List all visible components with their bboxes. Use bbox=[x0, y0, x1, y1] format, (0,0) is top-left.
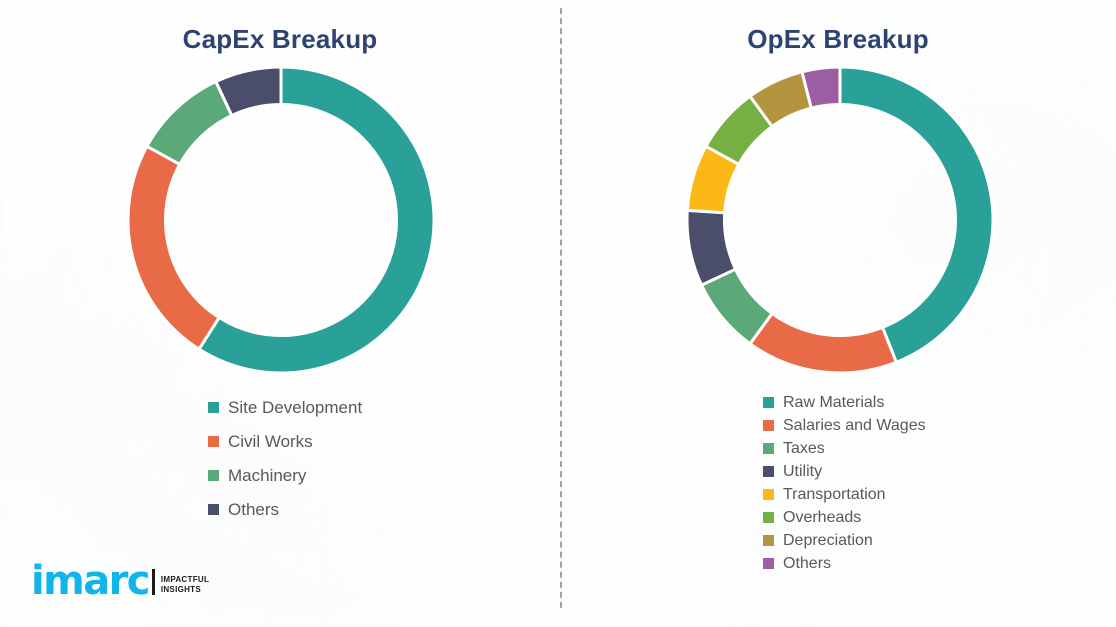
legend-item-label: Raw Materials bbox=[783, 395, 884, 411]
legend-item-label: Machinery bbox=[228, 467, 306, 484]
slide-canvas: CapEx Breakup Site DevelopmentCivil Work… bbox=[0, 0, 1116, 627]
logo-tagline-line1: IMPACTFUL bbox=[161, 575, 209, 585]
legend-swatch-icon bbox=[208, 504, 219, 515]
legend-item-label: Others bbox=[783, 556, 831, 572]
capex-panel: CapEx Breakup Site DevelopmentCivil Work… bbox=[0, 0, 560, 627]
opex-chart-title: OpEx Breakup bbox=[560, 24, 1116, 55]
capex-legend-item[interactable]: Site Development bbox=[208, 390, 362, 424]
opex-donut-chart bbox=[684, 64, 996, 376]
legend-swatch-icon bbox=[208, 436, 219, 447]
legend-swatch-icon bbox=[763, 443, 774, 454]
legend-swatch-icon bbox=[208, 470, 219, 481]
donut-slice bbox=[147, 82, 232, 165]
legend-swatch-icon bbox=[763, 420, 774, 431]
opex-legend-item[interactable]: Raw Materials bbox=[763, 391, 926, 414]
legend-item-label: Overheads bbox=[783, 510, 861, 526]
opex-legend-item[interactable]: Transportation bbox=[763, 483, 926, 506]
opex-legend-item[interactable]: Utility bbox=[763, 460, 926, 483]
donut-slice bbox=[840, 67, 993, 362]
logo-wordmark: imarc bbox=[31, 565, 149, 598]
capex-slice-group bbox=[128, 67, 434, 373]
legend-swatch-icon bbox=[763, 466, 774, 477]
legend-item-label: Salaries and Wages bbox=[783, 418, 926, 434]
opex-legend: Raw MaterialsSalaries and WagesTaxesUtil… bbox=[763, 391, 926, 575]
legend-item-label: Depreciation bbox=[783, 533, 873, 549]
imarc-logo: imarc IMPACTFUL INSIGHTS bbox=[31, 565, 209, 598]
donut-slice bbox=[750, 313, 896, 373]
legend-swatch-icon bbox=[763, 558, 774, 569]
capex-legend-item[interactable]: Civil Works bbox=[208, 424, 362, 458]
legend-item-label: Utility bbox=[783, 464, 822, 480]
capex-donut-chart bbox=[125, 64, 437, 376]
opex-legend-item[interactable]: Others bbox=[763, 552, 926, 575]
legend-swatch-icon bbox=[763, 535, 774, 546]
logo-tagline-line2: INSIGHTS bbox=[161, 585, 209, 595]
opex-legend-item[interactable]: Depreciation bbox=[763, 529, 926, 552]
legend-item-label: Civil Works bbox=[228, 433, 313, 450]
logo-divider-bar bbox=[152, 569, 155, 595]
legend-item-label: Transportation bbox=[783, 487, 886, 503]
capex-legend-item[interactable]: Others bbox=[208, 492, 362, 526]
legend-swatch-icon bbox=[208, 402, 219, 413]
legend-item-label: Taxes bbox=[783, 441, 825, 457]
opex-legend-item[interactable]: Taxes bbox=[763, 437, 926, 460]
capex-donut-svg bbox=[125, 64, 437, 376]
logo-tagline: IMPACTFUL INSIGHTS bbox=[161, 575, 209, 598]
donut-slice bbox=[687, 210, 735, 285]
opex-donut-svg bbox=[684, 64, 996, 376]
legend-swatch-icon bbox=[763, 397, 774, 408]
opex-legend-item[interactable]: Overheads bbox=[763, 506, 926, 529]
capex-legend-item[interactable]: Machinery bbox=[208, 458, 362, 492]
capex-legend: Site DevelopmentCivil WorksMachineryOthe… bbox=[208, 390, 362, 526]
legend-swatch-icon bbox=[763, 512, 774, 523]
opex-slice-group bbox=[687, 67, 993, 373]
legend-item-label: Site Development bbox=[228, 399, 362, 416]
opex-legend-item[interactable]: Salaries and Wages bbox=[763, 414, 926, 437]
capex-chart-title: CapEx Breakup bbox=[0, 24, 560, 55]
legend-item-label: Others bbox=[228, 501, 279, 518]
donut-slice bbox=[128, 146, 219, 349]
legend-swatch-icon bbox=[763, 489, 774, 500]
